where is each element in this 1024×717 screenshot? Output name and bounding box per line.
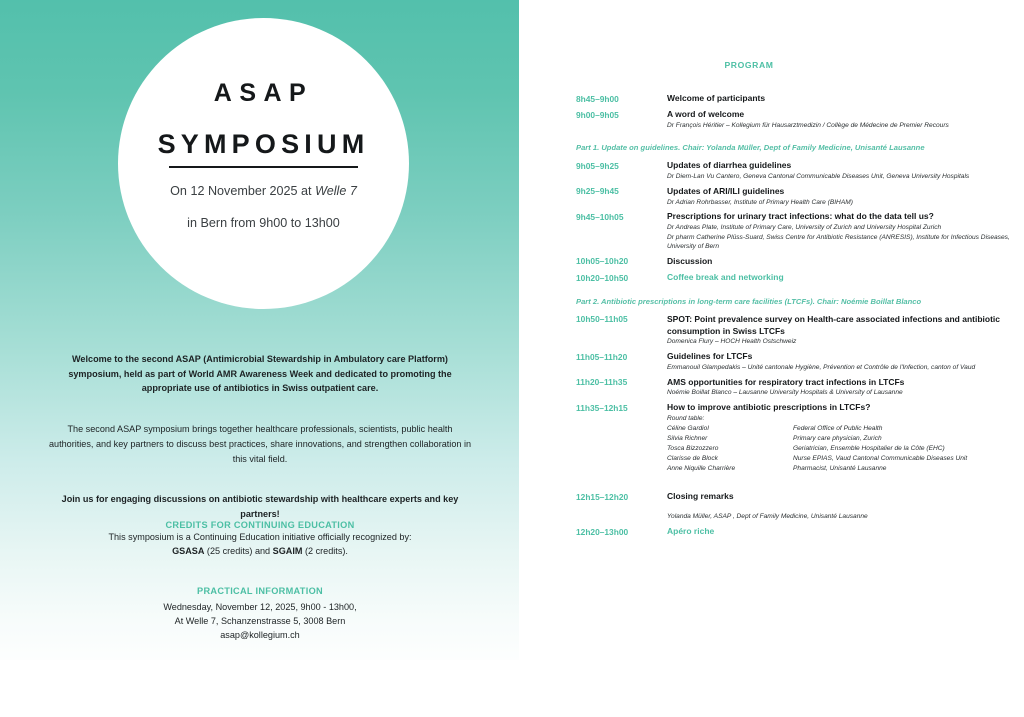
- roundtable-panelist-name: Tosca Bizzozzero: [667, 444, 793, 454]
- left-gradient-panel: ASAP SYMPOSIUM On 12 November 2025 at We…: [0, 0, 519, 660]
- program-row-title: Closing remarks: [667, 491, 1016, 503]
- program-row-time: 10h50–11h05: [576, 314, 667, 326]
- program-row-title: Welcome of participants: [667, 93, 1016, 105]
- program-row-title: How to improve antibiotic prescriptions …: [667, 402, 1016, 414]
- roundtable-row: Clarisse de BlockNurse EPIAS, Vaud Canto…: [667, 454, 1016, 464]
- program-row-title: Apéro riche: [667, 526, 1016, 538]
- program-row-time: 10h20–10h50: [576, 272, 667, 284]
- poster-page: ASAP SYMPOSIUM On 12 November 2025 at We…: [0, 0, 1024, 717]
- hero-time-line: in Bern from 9h00 to 13h00: [118, 217, 409, 231]
- hero-divider: [169, 166, 358, 168]
- program-row-speaker: Dr Adrian Rohrbasser, Institute of Prima…: [667, 198, 1016, 207]
- hero-title-asap: ASAP: [118, 80, 409, 108]
- credits-heading: CREDITS FOR CONTINUING EDUCATION: [46, 520, 474, 530]
- roundtable-panelist-affiliation: Federal Office of Public Health: [793, 424, 1016, 434]
- roundtable-panelist-affiliation: Pharmacist, Unisanté Lausanne: [793, 464, 1016, 474]
- program-row-body: Closing remarksYolanda Müller, ASAP , De…: [667, 491, 1016, 521]
- program-row-title: Prescriptions for urinary tract infectio…: [667, 211, 1016, 223]
- credits-block: CREDITS FOR CONTINUING EDUCATION This sy…: [46, 520, 474, 558]
- program-spacer: [576, 478, 1016, 491]
- program-row-title: Discussion: [667, 256, 1016, 268]
- program-row-body: Updates of ARI/ILI guidelinesDr Adrian R…: [667, 186, 1016, 207]
- roundtable-panelist-affiliation: Geriatrician, Ensemble Hospitalier de la…: [793, 444, 1016, 454]
- program-row-body: AMS opportunities for respiratory tract …: [667, 377, 1016, 398]
- program-row-time: 9h05–9h25: [576, 160, 667, 172]
- practical-info-block: PRACTICAL INFORMATION Wednesday, Novembe…: [46, 586, 474, 642]
- program-row: 12h20–13h00Apéro riche: [576, 526, 1016, 538]
- hero-date-prefix: On 12 November 2025 at: [170, 184, 315, 198]
- roundtable-panelist-affiliation: Primary care physician, Zurich: [793, 434, 1016, 444]
- program-row: 9h25–9h45Updates of ARI/ILI guidelinesDr…: [576, 186, 1016, 207]
- program-row-title: A word of welcome: [667, 109, 1016, 121]
- program-row-speaker: Yolanda Müller, ASAP , Dept of Family Me…: [667, 512, 1016, 521]
- practical-email[interactable]: asap@kollegium.ch: [46, 628, 474, 642]
- program-row: 8h45–9h00Welcome of participants: [576, 93, 1016, 105]
- credits-sgaim-detail: (2 credits).: [302, 546, 347, 556]
- program-row-body: SPOT: Point prevalence survey on Health-…: [667, 314, 1016, 347]
- intro-paragraph-2: The second ASAP symposium brings togethe…: [46, 422, 474, 466]
- hero-text-group: ASAP SYMPOSIUM On 12 November 2025 at We…: [118, 80, 409, 231]
- program-row-time: 12h15–12h20: [576, 491, 667, 503]
- credits-line-1: This symposium is a Continuing Education…: [46, 530, 474, 544]
- program-row-body: Discussion: [667, 256, 1016, 268]
- program-row: 11h20–11h35AMS opportunities for respira…: [576, 377, 1016, 398]
- program-row: 11h05–11h20Guidelines for LTCFsEmmanouil…: [576, 351, 1016, 372]
- program-row-title: SPOT: Point prevalence survey on Health-…: [667, 314, 1016, 337]
- program-row-title: Guidelines for LTCFs: [667, 351, 1016, 363]
- hero-date-line: On 12 November 2025 at Welle 7: [118, 185, 409, 199]
- intro-paragraph-1: Welcome to the second ASAP (Antimicrobia…: [46, 352, 474, 396]
- program-row-time: 10h05–10h20: [576, 256, 667, 268]
- program-row-body: Coffee break and networking: [667, 272, 1016, 284]
- hero-venue-name: Welle 7: [315, 184, 357, 198]
- program-row: 10h50–11h05SPOT: Point prevalence survey…: [576, 314, 1016, 347]
- program-row-time: 11h35–12h15: [576, 402, 667, 414]
- program-row-speaker: Emmanouil Glampedakis – Unité cantonale …: [667, 363, 1016, 372]
- program-row: 10h20–10h50Coffee break and networking: [576, 272, 1016, 284]
- program-row: 9h05–9h25Updates of diarrhea guidelinesD…: [576, 160, 1016, 181]
- program-row-time: 11h20–11h35: [576, 377, 667, 389]
- roundtable-panelist-name: Céline Gardiol: [667, 424, 793, 434]
- program-list: 8h45–9h00Welcome of participants9h00–9h0…: [576, 93, 1016, 542]
- practical-address: At Welle 7, Schanzenstrasse 5, 3008 Bern: [46, 614, 474, 628]
- roundtable-panelist-name: Silvia Richner: [667, 434, 793, 444]
- practical-heading: PRACTICAL INFORMATION: [46, 586, 474, 596]
- credits-gsasa: GSASA: [172, 546, 204, 556]
- roundtable-panelist-name: Anne Niquille Charrière: [667, 464, 793, 474]
- footer-logo-bar: Strategy on Antibiotic Resistance: [0, 660, 1024, 717]
- intro-text-block: Welcome to the second ASAP (Antimicrobia…: [46, 352, 474, 522]
- program-section-heading: Part 1. Update on guidelines. Chair: Yol…: [576, 143, 1016, 153]
- program-row-title: Updates of ARI/ILI guidelines: [667, 186, 1016, 198]
- roundtable-panelist-name: Clarisse de Block: [667, 454, 793, 464]
- program-row-body: Apéro riche: [667, 526, 1016, 538]
- roundtable-row: Anne Niquille CharrièrePharmacist, Unisa…: [667, 464, 1016, 474]
- program-row-body: Welcome of participants: [667, 93, 1016, 105]
- program-row-time: 9h45–10h05: [576, 211, 667, 223]
- program-row-body: Prescriptions for urinary tract infectio…: [667, 211, 1016, 251]
- program-row-speaker: Domenica Flury – HOCH Health Ostschweiz: [667, 337, 1016, 346]
- roundtable-label: Round table:: [667, 414, 1016, 424]
- program-row: 9h00–9h05A word of welcomeDr François Hé…: [576, 109, 1016, 130]
- credits-line-2: GSASA (25 credits) and SGAIM (2 credits)…: [46, 544, 474, 558]
- program-row-time: 12h20–13h00: [576, 526, 667, 538]
- program-spacer: [667, 503, 1016, 512]
- program-row-body: A word of welcomeDr François Héritier – …: [667, 109, 1016, 130]
- credits-sgaim: SGAIM: [273, 546, 303, 556]
- program-row-time: 8h45–9h00: [576, 93, 667, 105]
- program-row-speaker: Dr Andreas Plate, Institute of Primary C…: [667, 223, 1016, 232]
- hero-circle: ASAP SYMPOSIUM On 12 November 2025 at We…: [118, 18, 409, 309]
- program-title: PROGRAM: [519, 60, 979, 70]
- roundtable-row: Silvia RichnerPrimary care physician, Zu…: [667, 434, 1016, 444]
- program-row-time: 9h25–9h45: [576, 186, 667, 198]
- program-section-heading: Part 2. Antibiotic prescriptions in long…: [576, 297, 1016, 307]
- program-row-title: Updates of diarrhea guidelines: [667, 160, 1016, 172]
- program-row-speaker: Dr Diem-Lan Vu Cantero, Geneva Cantonal …: [667, 172, 1016, 181]
- program-row-body: Updates of diarrhea guidelinesDr Diem-La…: [667, 160, 1016, 181]
- program-row-speaker: Noémie Boillat Blanco – Lausanne Univers…: [667, 388, 1016, 397]
- program-row-speaker: Dr pharm Catherine Plüss-Suard, Swiss Ce…: [667, 233, 1016, 252]
- program-row: 12h15–12h20Closing remarksYolanda Müller…: [576, 491, 1016, 521]
- program-panel: PROGRAM 8h45–9h00Welcome of participants…: [519, 0, 1024, 660]
- practical-date: Wednesday, November 12, 2025, 9h00 - 13h…: [46, 600, 474, 614]
- program-row-speaker: Dr François Héritier – Kollegium für Hau…: [667, 121, 1016, 130]
- roundtable-row: Céline GardiolFederal Office of Public H…: [667, 424, 1016, 434]
- program-row: 11h35–12h15How to improve antibiotic pre…: [576, 402, 1016, 474]
- program-row-body: Guidelines for LTCFsEmmanouil Glampedaki…: [667, 351, 1016, 372]
- credits-gsasa-detail: (25 credits) and: [204, 546, 272, 556]
- program-row-time: 11h05–11h20: [576, 351, 667, 363]
- roundtable-row: Tosca BizzozzeroGeriatrician, Ensemble H…: [667, 444, 1016, 454]
- program-row: 10h05–10h20Discussion: [576, 256, 1016, 268]
- program-row-body: How to improve antibiotic prescriptions …: [667, 402, 1016, 474]
- intro-paragraph-3: Join us for engaging discussions on anti…: [46, 492, 474, 521]
- program-row-time: 9h00–9h05: [576, 109, 667, 121]
- roundtable-panelist-affiliation: Nurse EPIAS, Vaud Cantonal Communicable …: [793, 454, 1016, 464]
- hero-title-symposium: SYMPOSIUM: [118, 130, 409, 160]
- program-row-title: AMS opportunities for respiratory tract …: [667, 377, 1016, 389]
- program-row-title: Coffee break and networking: [667, 272, 1016, 284]
- program-row: 9h45–10h05Prescriptions for urinary trac…: [576, 211, 1016, 251]
